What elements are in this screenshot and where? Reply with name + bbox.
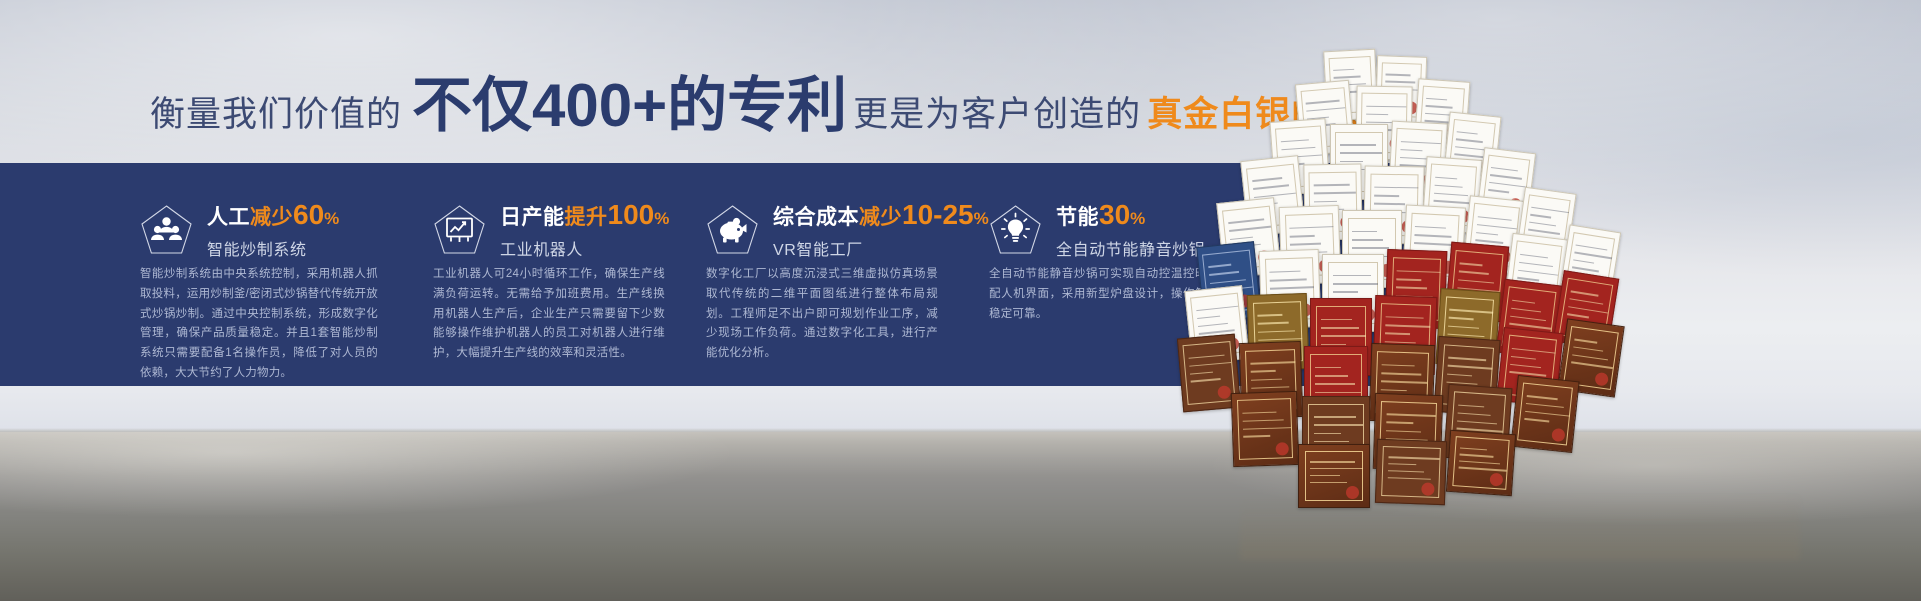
certificate-text-line <box>1210 279 1246 284</box>
lightbulb-icon <box>989 204 1042 257</box>
certificate-text-line <box>1571 362 1613 369</box>
certificate-text-line <box>1573 346 1603 352</box>
feature-card-header: 日产能提升100%工业机器人 <box>433 163 723 249</box>
piggy-bank-icon <box>706 204 759 257</box>
certificate-text-line <box>1229 226 1271 232</box>
certificate-text-line <box>1189 354 1225 359</box>
certificate-text-line <box>1520 254 1549 259</box>
certificate-text-line <box>1574 252 1611 259</box>
certificate-text-line <box>1290 243 1321 246</box>
certificate-text-line <box>1476 232 1499 236</box>
certificate-text-line <box>1191 379 1221 383</box>
certificate-text-line <box>1457 131 1478 135</box>
certificate-text-line <box>1333 275 1371 277</box>
certificate-text-line <box>1456 138 1483 142</box>
certificate-text-line <box>1529 221 1555 226</box>
certificate-text-line <box>1447 365 1492 370</box>
certificate-text-line <box>1397 278 1421 280</box>
certificate-text-line <box>1477 224 1517 230</box>
certificate-text-line <box>1230 236 1254 240</box>
certificate-text-line <box>1209 271 1239 276</box>
certificate-text-line <box>1314 200 1338 202</box>
certificate-text-line <box>1333 291 1358 293</box>
certificate-text-line <box>1196 305 1238 311</box>
feature-card-titles: 日产能提升100%工业机器人 <box>500 200 669 259</box>
certificate-text-line <box>1489 182 1526 188</box>
certificate-seal <box>1489 473 1503 487</box>
certificate-text-line <box>1290 226 1334 229</box>
certificate-text-line <box>1400 149 1423 152</box>
certificate-text-line <box>1253 185 1289 190</box>
certificate-text-line <box>1333 283 1378 285</box>
certificate-text-line <box>1426 105 1453 108</box>
certificate-text-line <box>1448 325 1479 329</box>
feature-metric-number: 10-25 <box>902 199 974 230</box>
certificate-text-line <box>1270 270 1301 273</box>
certificate-text-line <box>1426 98 1447 101</box>
feature-metric: 节能30% <box>1056 200 1205 229</box>
feature-description: 智能炒制系统由中央系统控制，采用机器人抓取投料，运用炒制釜/密闭式炒锅替代传统开… <box>140 265 378 384</box>
certificate-text-line <box>1290 235 1314 237</box>
certificate-seal <box>1217 385 1231 399</box>
certificate-text-line <box>1449 309 1492 314</box>
certificate-text-line <box>1459 263 1483 267</box>
certificate-text-line <box>1254 192 1296 198</box>
feature-card-1: 人工减少60%智能炒制系统智能炒制系统由中央系统控制，采用机器人抓取投料，运用炒… <box>140 163 450 386</box>
certificate-text-line <box>1457 420 1497 424</box>
certificate-text-line <box>1315 392 1362 394</box>
feature-card-titles: 人工减少60%智能炒制系统 <box>207 200 339 259</box>
certificate-text-line <box>1434 184 1463 187</box>
certificate-text-line <box>1511 307 1541 312</box>
certificate-text-line <box>1189 362 1231 367</box>
certificate-text-line <box>1400 157 1429 160</box>
certificate-text-line <box>1340 152 1382 154</box>
certificate-text-line <box>1386 430 1421 433</box>
certificate-text-line <box>1280 139 1309 142</box>
certificate-text-line <box>1352 247 1389 249</box>
certificate-text-line <box>1435 176 1458 179</box>
certificate-text-line <box>1458 404 1484 407</box>
certificate-text-line <box>1526 395 1558 400</box>
certificate-text-line <box>1198 322 1228 327</box>
certificate-text-line <box>1333 68 1354 71</box>
certificate-text-line <box>1340 144 1376 146</box>
feature-metric-verb: 减少 <box>250 206 293 229</box>
headline-middle: 更是为客户创造的 <box>853 86 1141 137</box>
certificate-text-line <box>1490 174 1522 179</box>
certificate-text-line <box>1243 427 1291 430</box>
certificate-text-line <box>1314 424 1364 426</box>
certificate-text-line <box>1252 177 1282 182</box>
certificate-text-line <box>1385 81 1416 84</box>
certificate-text-line <box>1243 419 1284 422</box>
certificate-text-line <box>1512 300 1536 304</box>
certificate-text-line <box>1415 226 1446 229</box>
certificate-text-line <box>1382 364 1415 367</box>
chart-easel-icon <box>433 204 486 257</box>
feature-metric-label: 日产能 <box>500 206 565 229</box>
certificate-seal <box>1551 428 1565 442</box>
certificate-text-line <box>1321 327 1359 329</box>
certificate-text-line <box>1459 467 1507 472</box>
certificate-text-line <box>1570 291 1598 297</box>
certificate-text-line <box>1197 315 1221 319</box>
certificate-text-line <box>1576 244 1608 250</box>
certificate-seal <box>1346 486 1359 499</box>
headline-emphasis: 不仅400+的专利 <box>402 76 853 136</box>
certificate-text-line <box>1314 184 1350 186</box>
certificate-text-line <box>1366 113 1389 115</box>
feature-metric-number: 30 <box>1099 199 1130 230</box>
certificate-text-line <box>1567 313 1590 318</box>
certificate-text-line <box>1270 287 1314 290</box>
certificate-text-line <box>1340 161 1364 163</box>
certificate-text-line <box>1306 100 1339 104</box>
certificate-text-line <box>1251 386 1289 389</box>
certificate-text-line <box>1385 333 1410 335</box>
certificate-text-line <box>1250 370 1275 372</box>
certificate-text-line <box>1388 463 1417 465</box>
certificate-text-line <box>1270 279 1307 282</box>
certificate-item <box>1298 444 1370 508</box>
certificate-text-line <box>1510 315 1546 321</box>
certificate-text-line <box>1400 141 1441 145</box>
certificate-text-line <box>1310 475 1339 477</box>
certificate-text-line <box>1281 147 1316 151</box>
feature-metric-percent: % <box>974 209 989 228</box>
feature-card-3: 综合成本减少10-25%VR智能工厂数字化工厂以高度沉浸式三维虚拟仿真场景取代传… <box>706 163 996 386</box>
certificate-text-line <box>1381 381 1428 384</box>
certificate-text-line <box>1385 316 1423 319</box>
feature-metric-verb: 减少 <box>859 206 902 229</box>
certificate-text-line <box>1447 373 1472 376</box>
certificate-text-line <box>1314 441 1349 443</box>
certificate-text-line <box>1388 470 1424 473</box>
page-headline: 衡量我们价值的 不仅400+的专利 更是为客户创造的 真金白银的效益 <box>150 76 1390 138</box>
feature-card-header: 人工减少60%智能炒制系统 <box>140 163 450 249</box>
feature-metric: 日产能提升100% <box>500 200 669 229</box>
certificate-text-line <box>1310 468 1363 470</box>
feature-metric-label: 综合成本 <box>773 206 859 229</box>
certificate-text-line <box>1526 403 1564 409</box>
certificate-text-line <box>1388 477 1432 480</box>
feature-metric: 人工减少60% <box>207 200 339 229</box>
certificate-seal <box>1276 442 1289 455</box>
feature-card-titles: 节能30%全自动节能静音炒锅 <box>1056 200 1205 259</box>
certificate-text-line <box>1568 306 1608 314</box>
certificate-text-line <box>1381 372 1421 375</box>
certificate-text-line <box>1381 389 1407 391</box>
certificate-text-line <box>1434 192 1469 196</box>
certificate-text-line <box>1385 74 1410 76</box>
certificate-text-line <box>1243 435 1270 437</box>
feature-description: 数字化工厂以高度沉浸式三维虚拟仿真场景取代传统的二维平面图纸进行整体布局规划。工… <box>706 265 938 364</box>
certificate-text-line <box>1519 261 1553 267</box>
certificate-text-line <box>1366 121 1395 123</box>
certificate-text-line <box>1528 229 1560 235</box>
certificate-text-line <box>1525 410 1570 416</box>
certificate-text-line <box>1374 203 1405 205</box>
certificate-item <box>1231 391 1300 467</box>
certificate-text-line <box>1258 322 1289 325</box>
certificate-text-line <box>1396 287 1427 290</box>
feature-metric-percent: % <box>654 209 669 228</box>
feature-subtitle: VR智能工厂 <box>773 236 989 260</box>
certificate-text-line <box>1321 335 1366 337</box>
certificate-item <box>1446 430 1516 496</box>
certificate-text-line <box>1315 367 1341 369</box>
certificate-text-line <box>1459 271 1489 275</box>
certificate-text-line <box>1530 214 1551 218</box>
certificate-text-line <box>1458 279 1494 284</box>
certificate-text-line <box>1315 383 1355 385</box>
certificate-text-line <box>1228 219 1264 224</box>
certificate-text-line <box>1386 422 1414 424</box>
certificate-text-line <box>1460 447 1487 450</box>
feature-metric-percent: % <box>324 209 339 228</box>
certificate-text-line <box>1449 317 1473 320</box>
certificate-text-line <box>1524 418 1549 422</box>
certificate-text-line <box>1314 416 1356 418</box>
certificate-text-line <box>1459 460 1500 464</box>
feature-metric-label: 节能 <box>1056 206 1099 229</box>
certificate-text-line <box>1374 195 1398 197</box>
certificate-text-line <box>1415 234 1452 237</box>
certificate-text-line <box>1491 167 1517 172</box>
feature-description: 工业机器人可24小时循环工作，确保生产线满负荷运转。无需给予加班费用。生产线换用… <box>433 265 665 364</box>
certificate-seal <box>1422 482 1435 495</box>
feature-card-header: 综合成本减少10-25%VR智能工厂 <box>706 163 996 249</box>
certificate-text-line <box>1569 298 1603 305</box>
certificate-text-line <box>1258 330 1295 333</box>
certificate-text-line <box>1518 269 1558 275</box>
certificate-item <box>1375 439 1447 505</box>
certificate-text-line <box>1314 192 1356 194</box>
certificate-text-line <box>1385 324 1430 327</box>
feature-card-2: 日产能提升100%工业机器人工业机器人可24小时循环工作，确保生产线满负荷运转。… <box>433 163 723 386</box>
people-group-icon <box>140 204 193 257</box>
feature-metric: 综合成本减少10-25% <box>773 200 989 229</box>
certificate-item <box>1510 375 1579 453</box>
certificate-text-line <box>1352 239 1383 241</box>
certificate-text-line <box>1208 264 1232 268</box>
certificate-text-line <box>1250 361 1295 364</box>
certificate-text-line <box>1397 270 1441 273</box>
feature-metric-number: 60 <box>293 199 324 230</box>
certificate-text-line <box>1386 413 1436 416</box>
certificate-seal <box>1594 372 1609 387</box>
feature-subtitle: 全自动节能静音炒锅 <box>1056 236 1205 260</box>
certificate-text-line <box>1531 206 1568 213</box>
certificate-text-line <box>1190 371 1214 375</box>
certificate-text-line <box>1458 412 1491 416</box>
certificate-text-line <box>1573 259 1594 264</box>
certificate-text-line <box>1334 76 1361 79</box>
feature-metric-percent: % <box>1130 209 1145 228</box>
certificate-text-line <box>1314 433 1342 435</box>
certificate-text-line <box>1258 314 1282 316</box>
feature-subtitle: 工业机器人 <box>500 236 669 260</box>
certificate-text-line <box>1315 375 1348 377</box>
headline-lead: 衡量我们价值的 <box>150 86 402 137</box>
certificate-text-line <box>1460 454 1494 458</box>
feature-card-titles: 综合成本减少10-25%VR智能工厂 <box>773 200 989 259</box>
certificate-text-line <box>1310 482 1347 484</box>
certificate-text-line <box>1243 411 1277 414</box>
certificate-text-line <box>1251 378 1283 381</box>
certificate-text-line <box>1366 105 1407 107</box>
certificate-text-line <box>1375 186 1419 188</box>
certificate-text-line <box>1512 348 1555 354</box>
certificate-text-line <box>1448 357 1486 361</box>
certificate-text-line <box>1307 107 1346 112</box>
certificate-text-line <box>1352 231 1376 233</box>
certificate-text-line <box>1572 354 1608 360</box>
certificate-text-line <box>1455 146 1487 151</box>
banner-stage: 衡量我们价值的 不仅400+的专利 更是为客户创造的 真金白银的效益 人工减少6… <box>0 0 1921 601</box>
certificate-text-line <box>1511 356 1535 360</box>
feature-metric-verb: 提升 <box>565 206 608 229</box>
certificate-text-line <box>1510 363 1541 368</box>
feature-metric-label: 人工 <box>207 206 250 229</box>
certificate-text-line <box>1477 216 1512 221</box>
certificate-text-line <box>1388 456 1439 459</box>
certificate-text-line <box>1574 339 1597 344</box>
certificate-text-line <box>1488 189 1509 193</box>
feature-metric-number: 100 <box>608 199 655 230</box>
certificate-text-line <box>1321 319 1353 321</box>
certificate-text-line <box>1433 200 1474 204</box>
certificate-text-line <box>1310 461 1355 463</box>
feature-subtitle: 智能炒制系统 <box>207 236 339 260</box>
